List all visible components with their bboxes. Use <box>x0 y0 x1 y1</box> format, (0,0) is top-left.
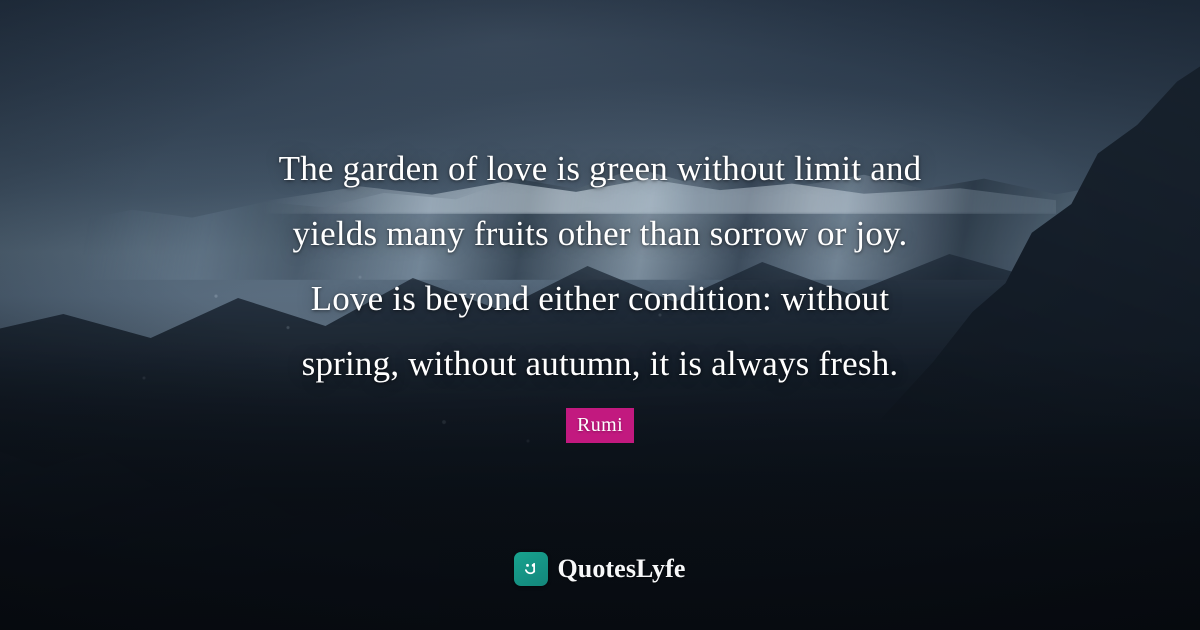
brand-name: QuotesLyfe <box>557 554 685 584</box>
quote-card: The garden of love is green without limi… <box>0 0 1200 630</box>
quote-text: The garden of love is green without limi… <box>0 136 1200 396</box>
card-content: The garden of love is green without limi… <box>0 0 1200 630</box>
quote-line-2: yields many fruits other than sorrow or … <box>0 201 1200 266</box>
author-row: Rumi <box>566 408 634 443</box>
quote-smiley-icon <box>514 552 548 586</box>
author-badge[interactable]: Rumi <box>566 408 634 443</box>
quote-line-4: spring, without autumn, it is always fre… <box>0 331 1200 396</box>
quote-line-3: Love is beyond either condition: without <box>0 266 1200 331</box>
brand-logo[interactable]: QuotesLyfe <box>0 552 1200 586</box>
quote-line-1: The garden of love is green without limi… <box>0 136 1200 201</box>
